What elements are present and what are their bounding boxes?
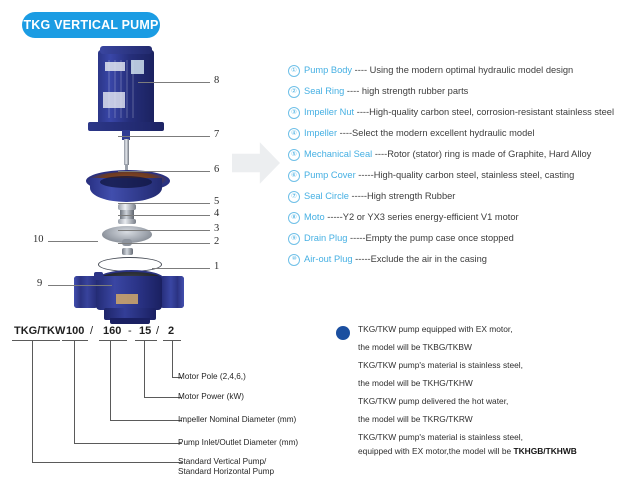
code-segment-power: 15 bbox=[139, 325, 151, 337]
leader-inlet-h bbox=[74, 443, 182, 444]
variant-line: TKG/TKW pump equipped with EX motor, bbox=[358, 324, 513, 334]
page-title-banner: TKG VERTICAL PUMP bbox=[22, 12, 160, 38]
part-name: Air-out Plug bbox=[304, 254, 353, 264]
list-item: ③Impeller Nut ----High-quality carbon st… bbox=[288, 102, 614, 123]
callout-number-4: 4 bbox=[214, 208, 219, 219]
outlet-flange-face bbox=[177, 276, 184, 308]
leader-series-v bbox=[32, 340, 33, 462]
item-number-icon: ⑧ bbox=[288, 212, 300, 224]
item-number-icon: ② bbox=[288, 86, 300, 98]
variant-line: TKG/TKW pump's material is stainless ste… bbox=[358, 360, 523, 370]
variant-line: TKG/TKW pump delivered the hot water, bbox=[358, 396, 508, 406]
leader-impeller-v bbox=[110, 340, 111, 420]
callout-leader-4 bbox=[118, 215, 210, 216]
mechanical-seal-lower bbox=[118, 219, 136, 224]
code-segment-pole: 2 bbox=[168, 325, 174, 337]
list-item: ②Seal Ring ---- high strength rubber par… bbox=[288, 81, 614, 102]
part-description: ----Rotor (stator) ring is made of Graph… bbox=[375, 149, 591, 159]
callout-number-2: 2 bbox=[214, 236, 219, 247]
part-description: -----Empty the pump case once stopped bbox=[350, 233, 514, 243]
callout-leader-9 bbox=[48, 285, 112, 286]
label-inlet-diameter: Pump Inlet/Outlet Diameter (mm) bbox=[178, 438, 298, 447]
impeller-nut bbox=[122, 248, 133, 255]
callout-leader-7 bbox=[118, 136, 210, 137]
callout-number-3: 3 bbox=[214, 223, 219, 234]
code-underline-power bbox=[135, 340, 157, 341]
leader-impeller-h bbox=[110, 420, 182, 421]
list-item: ⑥Pump Cover -----High-quality carbon ste… bbox=[288, 165, 614, 186]
page-title: TKG VERTICAL PUMP bbox=[23, 18, 158, 32]
callout-number-10: 10 bbox=[33, 234, 44, 245]
code-underline-inlet bbox=[62, 340, 88, 341]
list-item: ⑦Seal Circle -----High strength Rubber bbox=[288, 186, 614, 207]
part-name: Impeller bbox=[304, 128, 337, 138]
item-number-icon: ④ bbox=[288, 128, 300, 140]
inlet-flange-face bbox=[74, 276, 81, 308]
item-number-icon: ⑤ bbox=[288, 149, 300, 161]
leader-power-h bbox=[144, 397, 182, 398]
item-number-icon: ③ bbox=[288, 107, 300, 119]
label-standard-vertical: Standard Vertical Pump/ bbox=[178, 457, 266, 466]
part-description: ---- Using the modern optimal hydraulic … bbox=[355, 65, 574, 75]
code-separator-3: / bbox=[156, 325, 159, 337]
code-segment-series: TKG/TKW bbox=[14, 325, 65, 337]
part-description: ----Select the modern excellent hydrauli… bbox=[340, 128, 535, 138]
variant-line: the model will be TKBG/TKBW bbox=[358, 342, 472, 352]
label-standard-horizontal: Standard Horizontal Pump bbox=[178, 467, 274, 476]
callout-number-1: 1 bbox=[214, 261, 219, 272]
list-item: ①Pump Body ---- Using the modern optimal… bbox=[288, 60, 614, 81]
part-description: ----High-quality carbon steel, corrosion… bbox=[357, 107, 614, 117]
label-motor-pole: Motor Pole (2,4,6,) bbox=[178, 372, 246, 381]
callout-leader-3 bbox=[118, 230, 210, 231]
variant-line: the model will be TKHG/TKHW bbox=[358, 378, 473, 388]
leader-pole-v bbox=[172, 340, 173, 377]
callout-leader-5 bbox=[118, 203, 210, 204]
leader-series-h bbox=[32, 462, 182, 463]
part-description: ---- high strength rubber parts bbox=[347, 86, 468, 96]
list-item: ④Impeller ----Select the modern excellen… bbox=[288, 123, 614, 144]
code-segment-inlet: 100 bbox=[66, 325, 84, 337]
label-motor-power: Motor Power (kW) bbox=[178, 392, 244, 401]
variant-line: the model will be TKRG/TKRW bbox=[358, 414, 473, 424]
part-description: -----High-quality carbon steel, stainles… bbox=[358, 170, 574, 180]
callout-leader-1 bbox=[152, 268, 210, 269]
code-segment-impeller: 160 bbox=[103, 325, 121, 337]
part-name: Impeller Nut bbox=[304, 107, 354, 117]
callout-number-7: 7 bbox=[214, 129, 219, 140]
part-description: -----Exclude the air in the casing bbox=[355, 254, 487, 264]
pump-shaft bbox=[124, 139, 129, 165]
part-name: Pump Cover bbox=[304, 170, 356, 180]
motor-top-cap bbox=[100, 46, 152, 54]
callout-leader-10 bbox=[48, 241, 98, 242]
list-item: ⑤Mechanical Seal ----Rotor (stator) ring… bbox=[288, 144, 614, 165]
callout-number-9: 9 bbox=[37, 278, 42, 289]
pump-nameplate bbox=[116, 294, 138, 304]
callout-number-5: 5 bbox=[214, 196, 219, 207]
callout-leader-2 bbox=[118, 243, 210, 244]
callout-leader-6 bbox=[118, 171, 210, 172]
part-name: Pump Body bbox=[304, 65, 352, 75]
leader-power-v bbox=[144, 340, 145, 397]
air-out-plug bbox=[94, 272, 103, 280]
label-impeller-diameter: Impeller Nominal Diameter (mm) bbox=[178, 415, 296, 424]
pump-cover-bore bbox=[100, 176, 152, 188]
parts-legend-list: ①Pump Body ---- Using the modern optimal… bbox=[288, 60, 614, 270]
item-number-icon: ① bbox=[288, 65, 300, 77]
item-number-icon: ⑦ bbox=[288, 191, 300, 203]
list-item: ⑨Drain Plug -----Empty the pump case onc… bbox=[288, 228, 614, 249]
code-underline-series bbox=[12, 340, 60, 341]
item-number-icon: ⑨ bbox=[288, 233, 300, 245]
bullet-icon bbox=[336, 326, 350, 340]
part-name: Mechanical Seal bbox=[304, 149, 372, 159]
part-name: Drain Plug bbox=[304, 233, 347, 243]
code-separator-1: / bbox=[90, 325, 93, 337]
part-name: Moto bbox=[304, 212, 325, 222]
variant-line-final: equipped with EX motor,the model will be… bbox=[358, 446, 577, 456]
variant-line: TKG/TKW pump's material is stainless ste… bbox=[358, 432, 523, 442]
list-item: ⑩Air-out Plug -----Exclude the air in th… bbox=[288, 249, 614, 270]
part-name: Seal Circle bbox=[304, 191, 349, 201]
callout-number-6: 6 bbox=[214, 164, 219, 175]
variant-model-code: TKHGB/TKHWB bbox=[514, 446, 577, 456]
code-underline-impeller bbox=[99, 340, 127, 341]
leader-inlet-v bbox=[74, 340, 75, 443]
part-description: -----High strength Rubber bbox=[352, 191, 456, 201]
part-description: -----Y2 or YX3 series energy-efficient V… bbox=[327, 212, 518, 222]
item-number-icon: ⑩ bbox=[288, 254, 300, 266]
list-item: ⑧Moto -----Y2 or YX3 series energy-effic… bbox=[288, 207, 614, 228]
part-name: Seal Ring bbox=[304, 86, 344, 96]
model-code-breakdown: TKG/TKW 100 / 160 - 15 / 2 Motor Pole (2… bbox=[0, 305, 330, 495]
callout-leader-8 bbox=[138, 82, 210, 83]
right-arrow-icon bbox=[232, 140, 280, 186]
motor-housing bbox=[98, 50, 154, 124]
item-number-icon: ⑥ bbox=[288, 170, 300, 182]
callout-number-8: 8 bbox=[214, 75, 219, 86]
code-separator-2: - bbox=[128, 325, 132, 337]
variant-line-text: equipped with EX motor,the model will be bbox=[358, 446, 514, 456]
